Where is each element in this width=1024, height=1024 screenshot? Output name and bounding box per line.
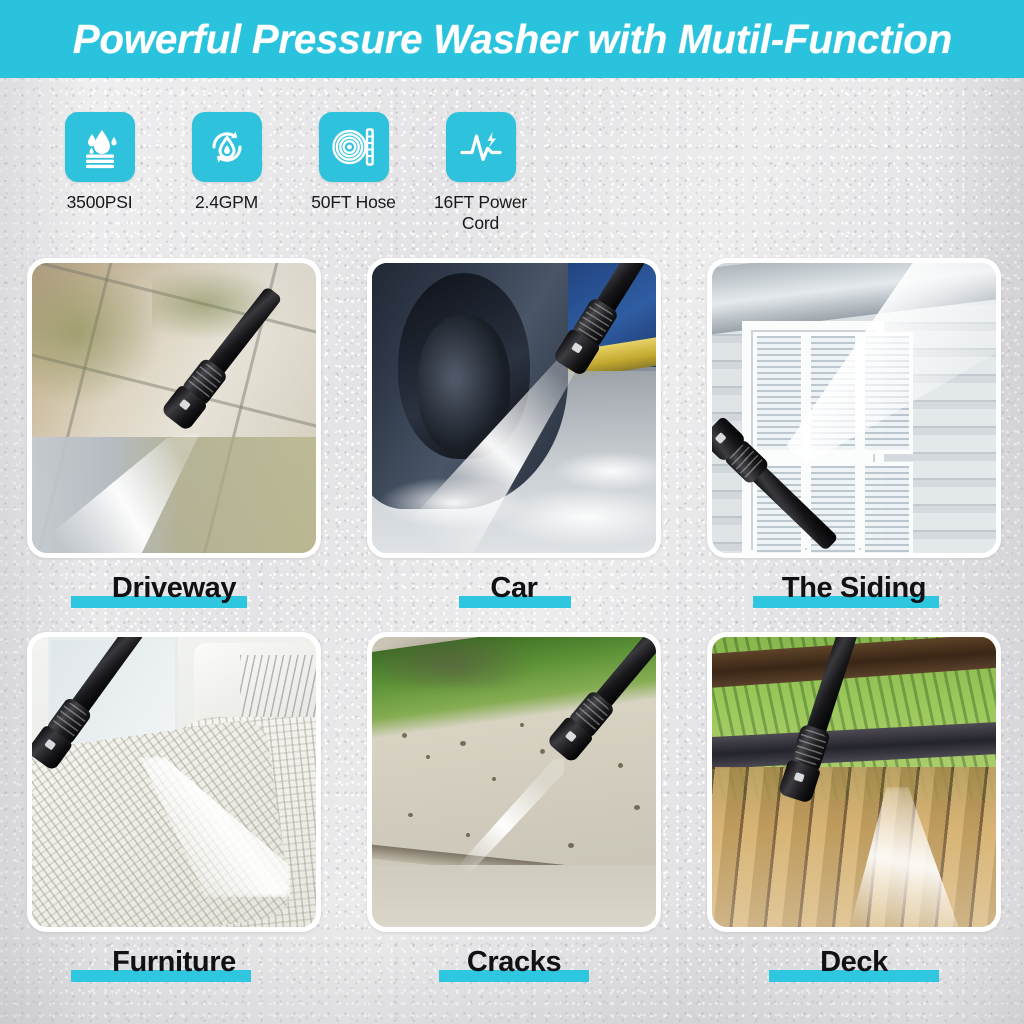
photo-card-deck[interactable]: [707, 632, 1001, 932]
caption-deck: Deck: [707, 936, 1001, 988]
scenario-cell-driveway: Driveway: [27, 258, 321, 558]
spec-row: 3500PSI 2.4GPM: [36, 112, 544, 235]
spec-label-gpm: 2.4GPM: [195, 192, 258, 213]
caption-car: Car: [367, 562, 661, 614]
scenario-cell-furniture: Furniture: [27, 632, 321, 932]
caption-label: Car: [490, 572, 537, 605]
caption-label: The Siding: [782, 572, 926, 605]
photo-card-driveway[interactable]: [27, 258, 321, 558]
spec-item-psi: 3500PSI: [36, 112, 163, 213]
water-droplets-icon: [65, 112, 135, 182]
spec-label-hose: 50FT Hose: [311, 192, 395, 213]
spec-item-cord: 16FT Power Cord: [417, 112, 544, 235]
page-title: Powerful Pressure Washer with Mutil-Func…: [72, 16, 951, 63]
scenario-cell-cracks: Cracks: [367, 632, 661, 932]
caption-label: Driveway: [112, 572, 236, 605]
scenario-grid: Driveway: [27, 258, 1000, 932]
coiled-hose-reel-icon: [319, 112, 389, 182]
photo-furniture: [32, 637, 316, 927]
caption-label: Deck: [820, 946, 888, 979]
caption-furniture: Furniture: [27, 936, 321, 988]
photo-card-furniture[interactable]: [27, 632, 321, 932]
photo-card-siding[interactable]: [707, 258, 1001, 558]
scenario-cell-car: Car: [367, 258, 661, 558]
photo-siding: [712, 263, 996, 553]
power-pulse-bolt-icon: [446, 112, 516, 182]
photo-car: [372, 263, 656, 553]
header-banner: Powerful Pressure Washer with Mutil-Func…: [0, 0, 1024, 78]
photo-cracks: [372, 637, 656, 927]
photo-deck: [712, 637, 996, 927]
caption-cracks: Cracks: [367, 936, 661, 988]
spec-label-psi: 3500PSI: [67, 192, 133, 213]
photo-card-car[interactable]: [367, 258, 661, 558]
caption-label: Cracks: [467, 946, 561, 979]
spec-item-hose: 50FT Hose: [290, 112, 417, 213]
caption-driveway: Driveway: [27, 562, 321, 614]
caption-siding: The Siding: [707, 562, 1001, 614]
flow-recycle-droplet-icon: [192, 112, 262, 182]
scenario-cell-siding: The Siding: [707, 258, 1001, 558]
spec-item-gpm: 2.4GPM: [163, 112, 290, 213]
photo-card-cracks[interactable]: [367, 632, 661, 932]
spec-label-cord: 16FT Power Cord: [422, 192, 540, 235]
photo-driveway: [32, 263, 316, 553]
caption-label: Furniture: [112, 946, 236, 979]
scenario-cell-deck: Deck: [707, 632, 1001, 932]
